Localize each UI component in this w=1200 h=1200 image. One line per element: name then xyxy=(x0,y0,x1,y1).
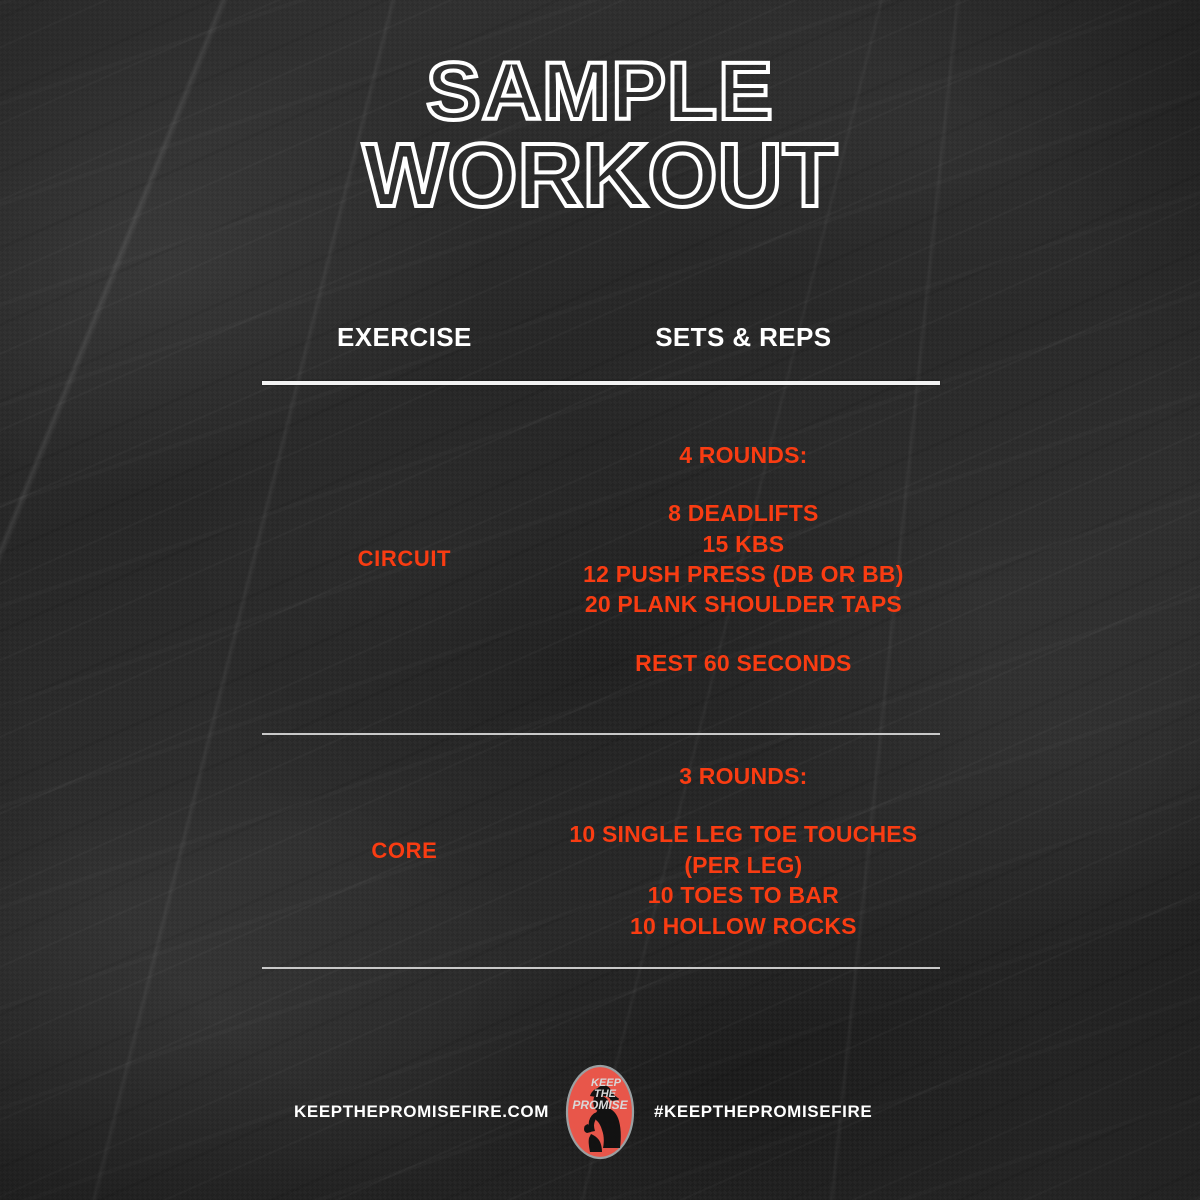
cell-exercise-name: CIRCUIT xyxy=(262,546,547,572)
movement-item: 10 SINGLE LEG TOE TOUCHES (PER LEG) xyxy=(563,819,924,880)
workout-poster: SAMPLE WORKOUT EXERCISE SETS & REPS CIRC… xyxy=(0,0,1200,1200)
page-title: SAMPLE WORKOUT xyxy=(0,52,1200,221)
column-header-exercise: EXERCISE xyxy=(337,322,472,352)
movement-item: 8 DEADLIFTS xyxy=(563,498,924,528)
column-header-sets-reps: SETS & REPS xyxy=(655,322,831,352)
keep-the-promise-logo-icon: KEEP THE PROMISE xyxy=(564,1062,636,1162)
footer: KEEPTHEPROMISEFIRE.COM xyxy=(0,1062,1200,1162)
movement-item: 15 KBS xyxy=(563,529,924,559)
rounds-label: 4 ROUNDS: xyxy=(563,440,924,470)
cell-sets-reps: 4 ROUNDS: 8 DEADLIFTS 15 KBS 12 PUSH PRE… xyxy=(547,440,940,678)
logo-line-3: PROMISE xyxy=(572,1098,628,1112)
cell-sets-reps: 3 ROUNDS: 10 SINGLE LEG TOE TOUCHES (PER… xyxy=(547,761,940,941)
footer-website[interactable]: KEEPTHEPROMISEFIRE.COM xyxy=(294,1102,564,1122)
spacer xyxy=(563,620,924,648)
page-title-line-1: SAMPLE xyxy=(0,52,1200,132)
spacer xyxy=(563,470,924,498)
footer-hashtag[interactable]: #KEEPTHEPROMISEFIRE xyxy=(636,1102,906,1122)
table-header-row: EXERCISE SETS & REPS xyxy=(262,322,940,359)
cell-exercise-name: CORE xyxy=(262,838,547,864)
table-row: CORE 3 ROUNDS: 10 SINGLE LEG TOE TOUCHES… xyxy=(262,735,940,967)
movement-item: 10 TOES TO BAR xyxy=(563,880,924,910)
table-divider xyxy=(262,967,940,969)
movement-item: 20 PLANK SHOULDER TAPS xyxy=(563,589,924,619)
workout-table: EXERCISE SETS & REPS CIRCUIT 4 ROUNDS: 8… xyxy=(262,322,940,969)
table-row: CIRCUIT 4 ROUNDS: 8 DEADLIFTS 15 KBS 12 … xyxy=(262,385,940,733)
rest-label: REST 60 SECONDS xyxy=(563,648,924,678)
rounds-label: 3 ROUNDS: xyxy=(563,761,924,791)
spacer xyxy=(563,791,924,819)
movement-item: 10 HOLLOW ROCKS xyxy=(563,911,924,941)
page-title-line-2: WORKOUT xyxy=(0,132,1200,220)
movement-item: 12 PUSH PRESS (DB OR BB) xyxy=(563,559,924,589)
